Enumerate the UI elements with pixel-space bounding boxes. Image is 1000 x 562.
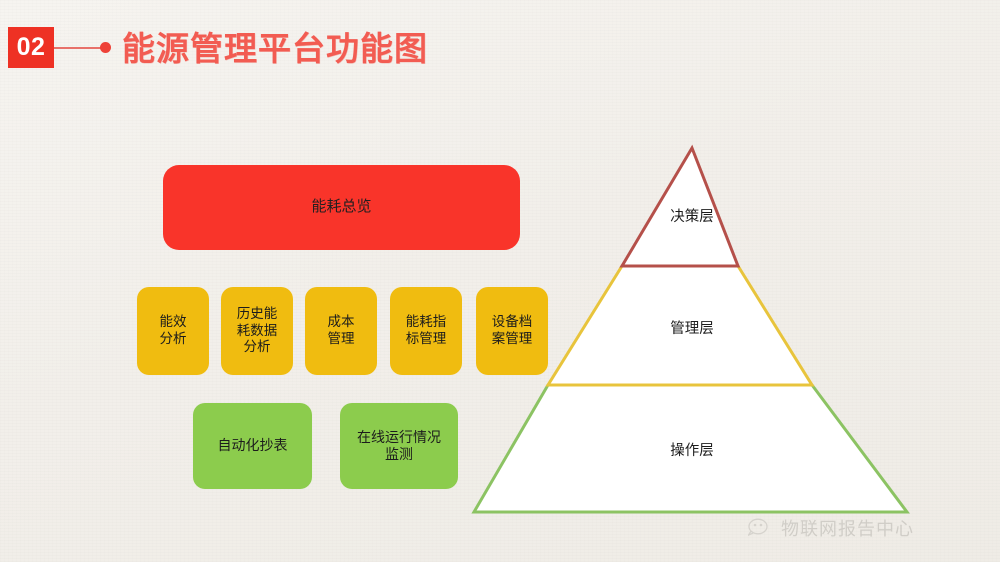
function-box-yellow-3[interactable]: 成本管理 xyxy=(305,287,377,375)
wechat-icon xyxy=(748,518,774,539)
slide-canvas: 02 能源管理平台功能图 能耗总览 能效分析 历史能耗数据分析 成本管理 能耗指… xyxy=(0,0,1000,562)
pyramid-tier-label-management: 管理层 xyxy=(670,317,714,338)
function-box-green-2[interactable]: 在线运行情况监测 xyxy=(340,403,458,489)
page-title: 能源管理平台功能图 xyxy=(122,22,428,70)
maturity-pyramid: 决策层 管理层 操作层 xyxy=(455,135,925,530)
section-number-badge: 02 xyxy=(8,27,54,68)
function-box-yellow-2[interactable]: 历史能耗数据分析 xyxy=(221,287,293,375)
function-box-yellow-4[interactable]: 能耗指标管理 xyxy=(390,287,462,375)
header-connector-line xyxy=(54,47,104,49)
watermark-text: 物联网报告中心 xyxy=(781,515,914,541)
slide-header: 02 能源管理平台功能图 xyxy=(0,0,1000,95)
pyramid-tier-label-operation: 操作层 xyxy=(670,439,714,460)
function-box-green-1[interactable]: 自动化抄表 xyxy=(193,403,312,489)
watermark: 物联网报告中心 xyxy=(748,515,914,541)
function-box-yellow-1[interactable]: 能效分析 xyxy=(137,287,209,375)
header-connector-dot-icon xyxy=(100,42,111,53)
pyramid-tier-label-decision: 决策层 xyxy=(670,205,714,226)
